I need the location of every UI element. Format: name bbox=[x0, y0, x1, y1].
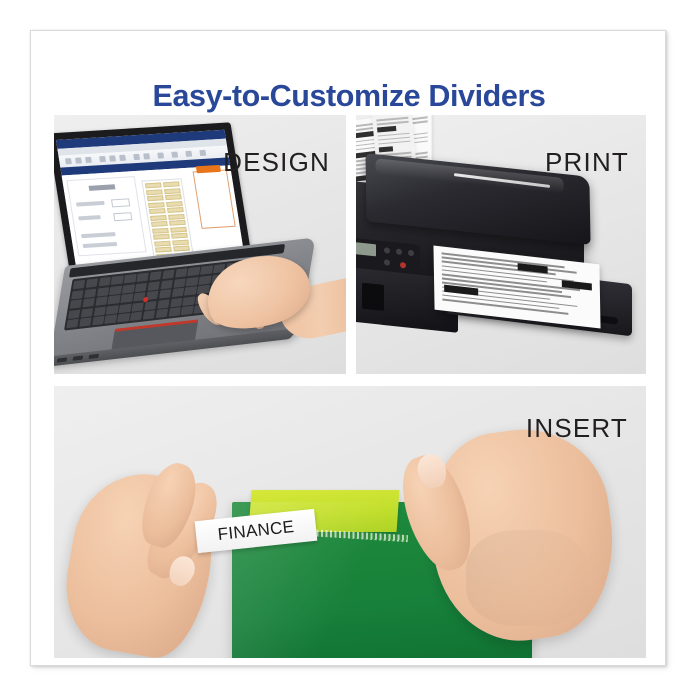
panel-design: DESIGN bbox=[54, 115, 346, 374]
finance-label-text: FINANCE bbox=[217, 517, 295, 545]
product-image-page: Easy-to-Customize Dividers bbox=[0, 0, 700, 700]
divider-template-grid bbox=[141, 178, 193, 257]
printer-power-button bbox=[400, 262, 406, 269]
divider-preview bbox=[193, 169, 236, 228]
page-title: Easy-to-Customize Dividers bbox=[31, 79, 667, 114]
software-options-panel bbox=[66, 176, 146, 256]
right-knuckles bbox=[466, 530, 588, 626]
panel-print: PRINT bbox=[356, 115, 646, 374]
printer-lcd-display bbox=[356, 242, 376, 257]
step-label-insert: INSERT bbox=[526, 413, 628, 444]
right-hand bbox=[402, 410, 642, 658]
step-label-design: DESIGN bbox=[223, 147, 330, 178]
product-card: Easy-to-Customize Dividers bbox=[30, 30, 666, 666]
panel-insert: INSERT bbox=[54, 386, 646, 658]
step-label-print: PRINT bbox=[545, 147, 629, 178]
hand-typing bbox=[176, 247, 346, 367]
